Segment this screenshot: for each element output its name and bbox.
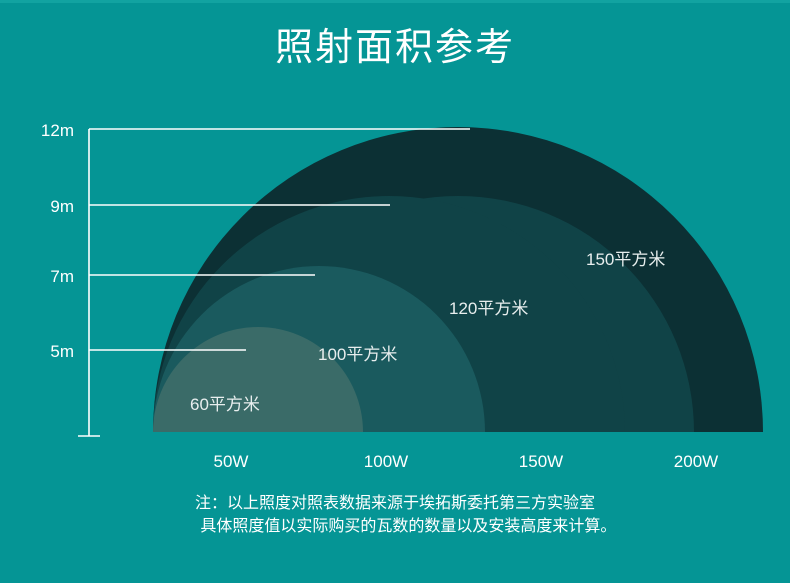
band-label-120: 120平方米 [449, 299, 528, 318]
band-label-60: 60平方米 [190, 395, 260, 414]
y-tick-label-12m: 12m [41, 121, 74, 140]
band-label-100: 100平方米 [318, 345, 397, 364]
band-label-150: 150平方米 [586, 250, 665, 269]
y-axis-tick-labels: 12m 9m 7m 5m [41, 121, 74, 361]
x-tick-label-50w: 50W [214, 452, 249, 471]
y-tick-label-9m: 9m [50, 197, 74, 216]
y-tick-label-5m: 5m [50, 342, 74, 361]
x-tick-label-100w: 100W [364, 452, 408, 471]
footnote: 注：以上照度对照表数据来源于埃拓斯委托第三方实验室 具体照度值以实际购买的瓦数的… [0, 492, 790, 538]
illumination-coverage-infographic: 照射面积参考 12m 9m [0, 0, 790, 583]
x-tick-label-150w: 150W [519, 452, 563, 471]
x-axis-tick-labels: 50W 100W 150W 200W [214, 452, 719, 471]
footnote-line-1: 注：以上照度对照表数据来源于埃拓斯委托第三方实验室 [0, 492, 790, 515]
x-tick-label-200w: 200W [674, 452, 718, 471]
y-tick-label-7m: 7m [50, 267, 74, 286]
footnote-line-2: 具体照度值以实际购买的瓦数的数量以及安装高度来计算。 [0, 515, 790, 538]
y-axis [78, 129, 100, 436]
